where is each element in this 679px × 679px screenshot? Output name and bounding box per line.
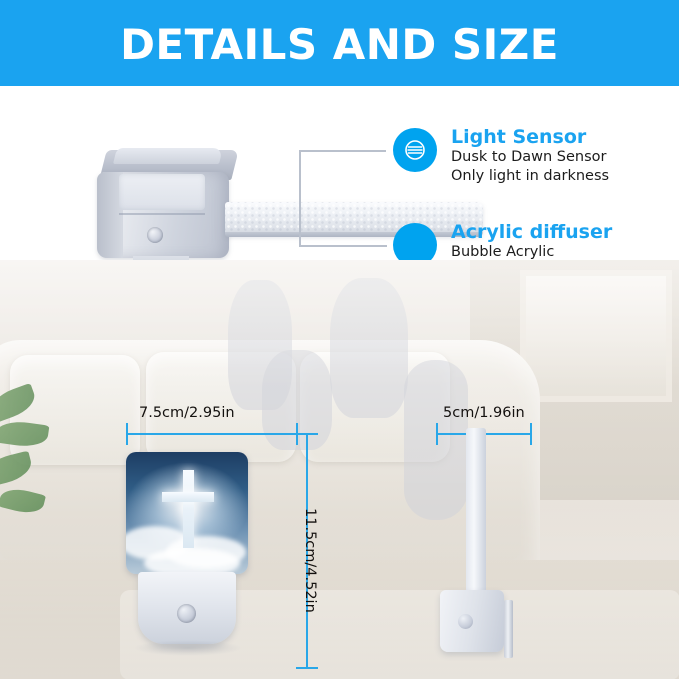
- dimension-label-width-side: 5cm/1.96in: [443, 405, 525, 421]
- photo-overlay: [0, 260, 679, 679]
- leader-line-light-sensor: [300, 150, 386, 152]
- dimension-line-width-front: [126, 433, 298, 435]
- feature-line-2: Only light in darkness: [451, 167, 609, 186]
- header-banner: DETAILS AND SIZE: [0, 0, 679, 88]
- dimension-label-width-front: 7.5cm/2.95in: [139, 405, 235, 421]
- light-sensor-dot: [177, 604, 196, 623]
- product-detail-image: DETAILS AND SIZE: [0, 0, 679, 679]
- cross-vertical-beam: [183, 470, 194, 548]
- dimension-label-height: 11.5cm/4.52in: [302, 508, 318, 613]
- feature-acrylic-diffuser-text: Acrylic diffuser Bubble Acrylic: [451, 221, 612, 262]
- cross-in-clouds-image: [126, 452, 248, 574]
- cloud: [144, 548, 240, 574]
- feature-light-sensor-text: Light Sensor Dusk to Dawn Sensor Only li…: [451, 126, 609, 186]
- feature-title: Acrylic diffuser: [451, 221, 612, 243]
- bubble-texture: [225, 202, 483, 236]
- product-shadow: [134, 640, 242, 656]
- product-front-face: [119, 174, 205, 210]
- night-light-front-view: [126, 452, 248, 652]
- light-sensor-dot: [458, 614, 473, 629]
- diffuser-bottom-edge: [225, 232, 483, 237]
- product-seam-line: [119, 213, 205, 215]
- feature-line-1: Dusk to Dawn Sensor: [451, 148, 609, 167]
- dimension-cap-left: [126, 423, 128, 445]
- feature-title: Light Sensor: [451, 126, 609, 148]
- light-sensor-dot: [147, 227, 163, 243]
- dimension-cap-bottom: [296, 667, 318, 669]
- product-top-highlight: [113, 148, 223, 164]
- dimension-cap-top: [296, 433, 318, 435]
- page-title: DETAILS AND SIZE: [0, 0, 679, 88]
- leader-line-vertical: [299, 150, 301, 246]
- leader-line-diffuser: [299, 245, 387, 247]
- night-light-side-view-bottom: [432, 428, 542, 658]
- lifestyle-photo: [0, 260, 679, 679]
- diffuser-panel-edge: [466, 428, 486, 598]
- plug-prong-bottom: [504, 624, 513, 658]
- sensor-waves-icon: [393, 128, 437, 172]
- cross-horizontal-beam: [162, 492, 214, 502]
